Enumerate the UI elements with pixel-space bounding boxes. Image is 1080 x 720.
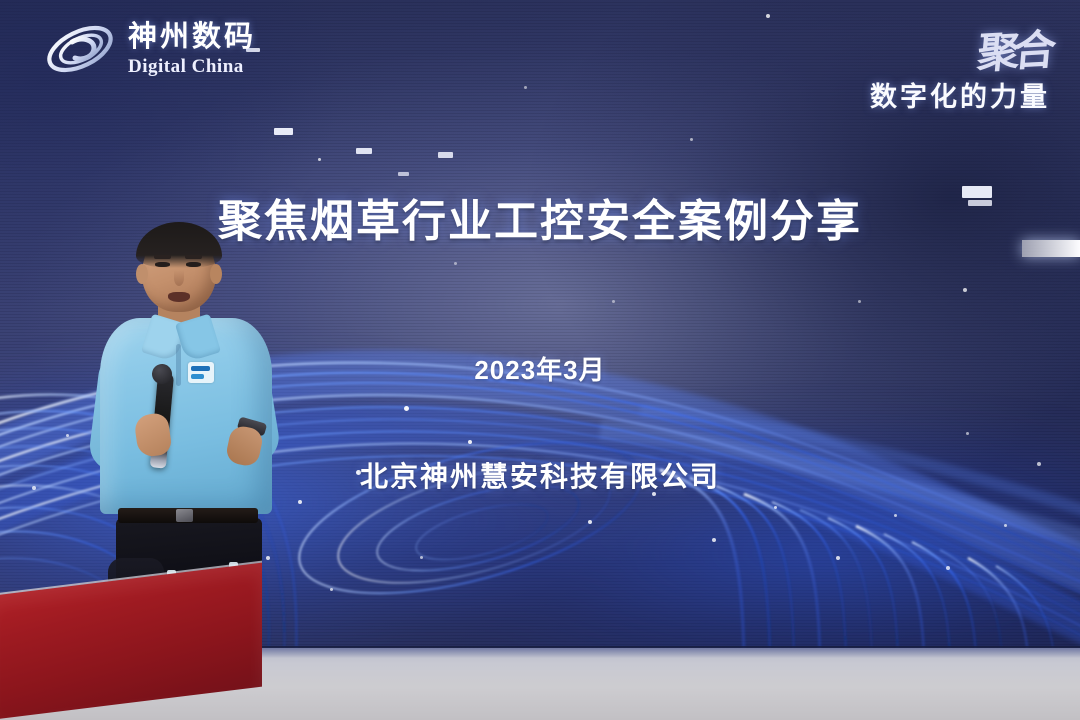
logo-english-name: Digital China <box>128 57 256 76</box>
foreground-table <box>0 560 262 720</box>
speaker-shirt-placket <box>176 344 181 386</box>
speaker-chest-logo-icon <box>188 362 214 383</box>
branding-calligraphy: 聚合 <box>975 16 1053 81</box>
speaker-mouth <box>168 292 190 302</box>
event-branding: 聚合 数字化的力量 <box>870 18 1050 114</box>
speaker-eyebrow-left <box>154 255 171 259</box>
red-table-cloth <box>0 563 262 720</box>
conference-stage-photo: 神州数码 Digital China 聚合 数字化的力量 聚焦烟草行业工控安全案… <box>0 0 1080 720</box>
speaker-eyebrow-right <box>185 255 202 259</box>
speaker-eye-right <box>186 262 201 267</box>
speaker-belt-buckle <box>176 509 193 522</box>
speaker-nose <box>174 270 184 286</box>
digital-china-swirl-icon <box>42 18 118 80</box>
logo-chinese-name: 神州数码 <box>128 23 256 52</box>
digital-china-logo: 神州数码 Digital China <box>42 18 256 80</box>
speaker-ear-right <box>210 264 222 284</box>
branding-subtitle: 数字化的力量 <box>870 75 1050 114</box>
speaker-eye-left <box>155 262 170 267</box>
speaker-hair <box>136 222 222 268</box>
speaker-ear-left <box>136 264 148 284</box>
